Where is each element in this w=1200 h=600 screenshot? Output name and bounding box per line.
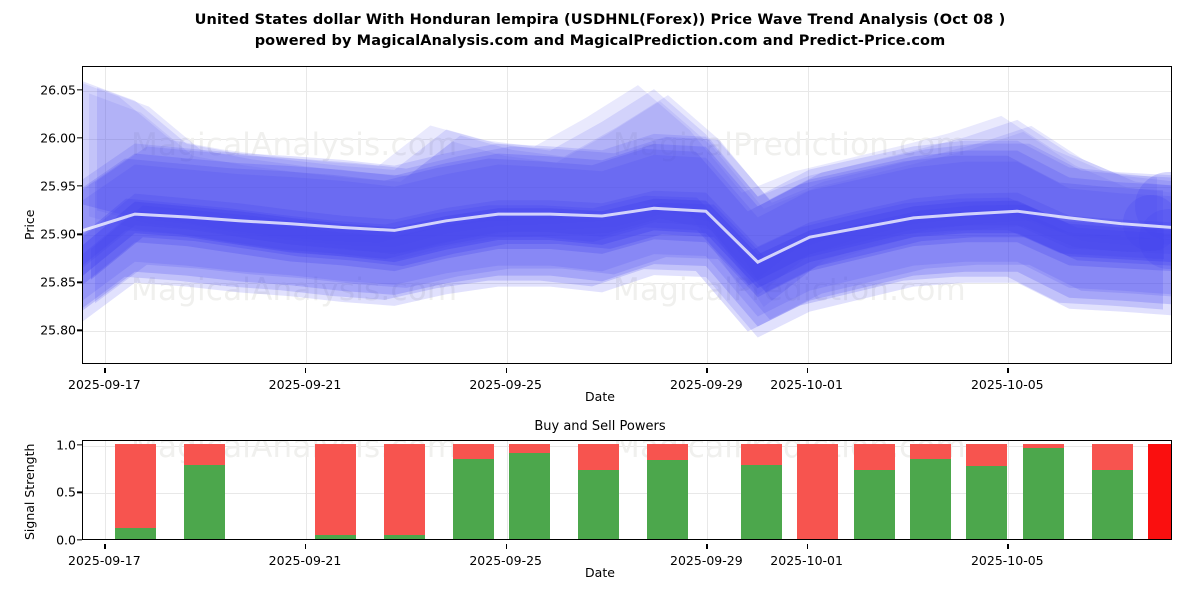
power-bar[interactable]: [184, 444, 225, 539]
price-wave-plot: MagicalAnalysis.com MagicalPrediction.co…: [82, 66, 1172, 364]
power-bar[interactable]: [910, 444, 951, 539]
powers-x-tick-mark: [506, 544, 507, 549]
buy-power-segment: [384, 535, 425, 539]
price-x-tick-mark: [807, 368, 808, 373]
buy-power-segment: [184, 465, 225, 539]
powers-x-tick-mark: [104, 544, 105, 549]
power-bar[interactable]: [797, 444, 838, 539]
sell-power-segment: [910, 444, 951, 459]
title-line-1: United States dollar With Honduran lempi…: [0, 10, 1200, 31]
sell-power-segment: [315, 444, 356, 535]
powers-title: Buy and Sell Powers: [0, 419, 1200, 434]
powers-x-tick-mark: [706, 544, 707, 549]
power-bar[interactable]: [741, 444, 782, 539]
price-axis-x-label: Date: [0, 389, 1200, 404]
price-x-tick-mark: [104, 368, 105, 373]
powers-x-tick-mark: [807, 544, 808, 549]
power-bar[interactable]: [1092, 444, 1133, 539]
powers-axis-x-label: Date: [0, 565, 1200, 580]
buy-power-segment: [966, 466, 1007, 539]
price-x-tick-mark: [706, 368, 707, 373]
sell-power-segment: [453, 444, 494, 459]
powers-y-tick-label: 0.5: [32, 485, 76, 500]
powers-y-tick-label: 0.0: [32, 533, 76, 548]
buy-power-segment: [910, 459, 951, 539]
price-x-tick-mark: [1007, 368, 1008, 373]
power-bar[interactable]: [1148, 444, 1172, 539]
sell-power-segment: [1023, 444, 1064, 448]
power-bar[interactable]: [453, 444, 494, 539]
power-bar[interactable]: [115, 444, 156, 539]
powers-x-tick-mark: [305, 544, 306, 549]
sell-power-segment: [509, 444, 550, 454]
buy-sell-powers-plot: MagicalAnalysis.com MagicalPrediction.co…: [82, 440, 1172, 540]
power-bar[interactable]: [509, 444, 550, 539]
power-bar[interactable]: [647, 444, 688, 539]
title-line-2: powered by MagicalAnalysis.com and Magic…: [0, 31, 1200, 52]
sell-power-segment: [184, 444, 225, 465]
sell-power-segment: [115, 444, 156, 528]
sell-power-segment: [854, 444, 895, 471]
buy-power-segment: [1092, 470, 1133, 539]
power-bar[interactable]: [966, 444, 1007, 539]
power-bar[interactable]: [854, 444, 895, 539]
power-bars: [83, 441, 1171, 539]
buy-power-segment: [741, 465, 782, 539]
powers-x-tick-mark: [1007, 544, 1008, 549]
buy-power-segment: [854, 470, 895, 539]
price-x-tick-mark: [305, 368, 306, 373]
sell-power-segment: [1092, 444, 1133, 471]
buy-power-segment: [453, 459, 494, 539]
power-bar[interactable]: [1023, 444, 1064, 539]
chart-page: United States dollar With Honduran lempi…: [0, 0, 1200, 600]
sell-power-segment: [384, 444, 425, 535]
buy-power-segment: [647, 460, 688, 539]
powers-x-tick-labels: 2025-09-172025-09-212025-09-252025-09-29…: [82, 544, 1172, 564]
page-title: United States dollar With Honduran lempi…: [0, 10, 1200, 52]
buy-power-segment: [315, 535, 356, 539]
power-bar[interactable]: [315, 444, 356, 539]
buy-power-segment: [1023, 448, 1064, 539]
powers-y-tick-label: 1.0: [32, 437, 76, 452]
power-bar[interactable]: [578, 444, 619, 539]
buy-power-segment: [509, 453, 550, 539]
price-wave-bands: [83, 67, 1172, 364]
sell-power-segment: [966, 444, 1007, 466]
sell-power-segment: [797, 444, 838, 539]
sell-power-segment: [647, 444, 688, 460]
buy-power-segment: [578, 470, 619, 539]
powers-y-tick-labels: 0.00.51.0: [26, 0, 76, 600]
buy-power-segment: [115, 528, 156, 539]
power-bar[interactable]: [384, 444, 425, 539]
price-x-tick-mark: [506, 368, 507, 373]
sell-power-segment: [578, 444, 619, 471]
sell-power-segment: [1148, 444, 1172, 539]
sell-power-segment: [741, 444, 782, 465]
price-x-tick-labels: 2025-09-172025-09-212025-09-252025-09-29…: [82, 368, 1172, 388]
